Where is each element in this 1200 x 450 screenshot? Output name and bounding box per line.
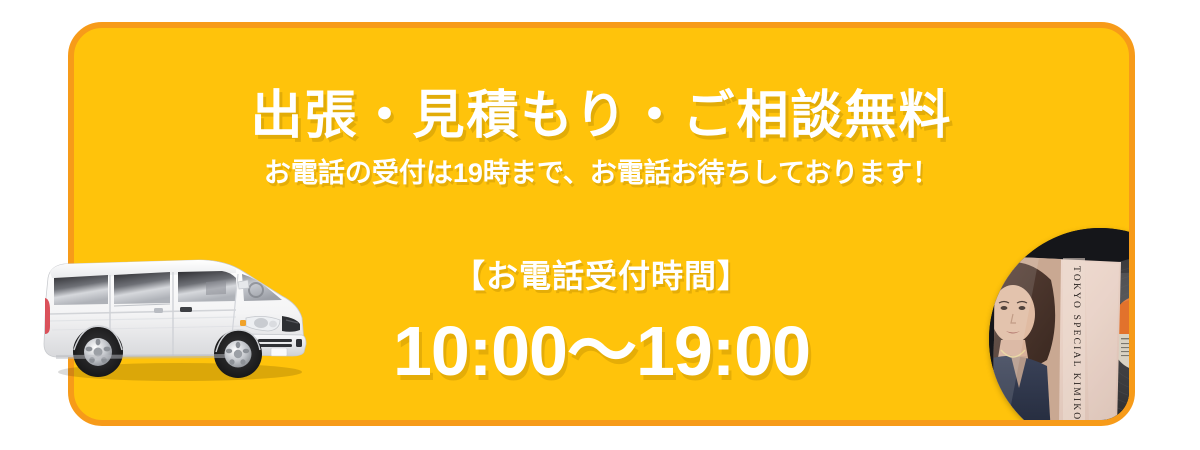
svg-text:TOKYO SPECIAL KIMIKO KASAI: TOKYO SPECIAL KIMIKO KASAI: [1071, 266, 1081, 426]
phone-hours-banner: 出張・見積もり・ご相談無料 お電話の受付は19時まで、お電話お待ちしております！…: [0, 0, 1200, 450]
banner-headline: 出張・見積もり・ご相談無料: [74, 90, 1129, 142]
banner-subheadline: お電話の受付は19時まで、お電話お待ちしております！: [74, 160, 1129, 187]
white-delivery-van: [30, 238, 320, 388]
vinyl-record-photo: TOKYO SPECIAL KIMIKO KASAI: [989, 228, 1135, 426]
